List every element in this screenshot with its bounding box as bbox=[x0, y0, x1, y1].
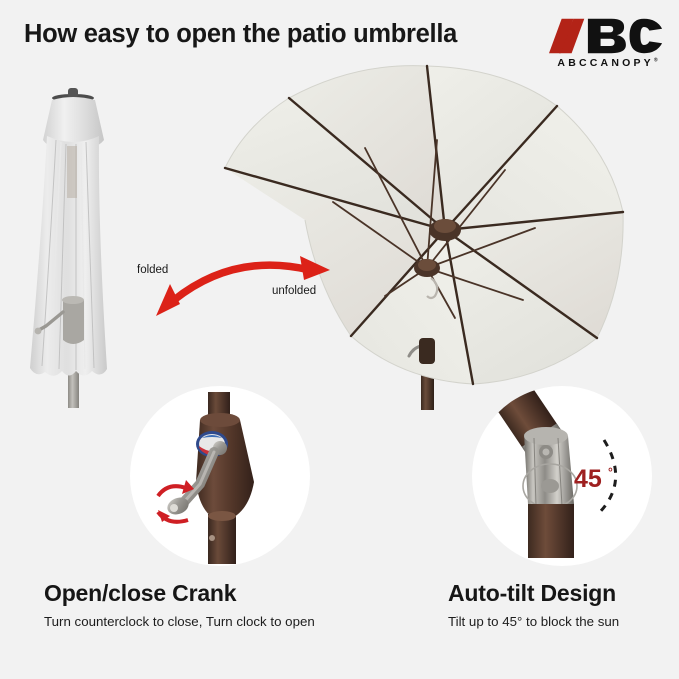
feature-caption-crank: Open/close Crank Turn counterclock to cl… bbox=[44, 580, 414, 629]
tilt-mechanism-illustration: 45 ° bbox=[472, 386, 652, 566]
tilt-angle-unit: ° bbox=[608, 465, 613, 479]
transition-arrow-icon bbox=[150, 248, 335, 320]
tilt-angle-value: 45 bbox=[574, 465, 602, 493]
folded-umbrella-illustration bbox=[6, 78, 156, 408]
feature-caption-tilt: Auto-tilt Design Tilt up to 45° to block… bbox=[448, 580, 679, 629]
feature-photo-tilt: 45 ° bbox=[472, 386, 652, 566]
open-umbrella-illustration bbox=[205, 50, 675, 410]
infographic-page: How easy to open the patio umbrella ABCC… bbox=[0, 0, 679, 679]
feature-title-crank: Open/close Crank bbox=[44, 580, 414, 607]
crank-mechanism-illustration bbox=[130, 386, 310, 566]
feature-subtitle-crank: Turn counterclock to close, Turn clock t… bbox=[44, 614, 414, 629]
illustration-stage: folded unfolded bbox=[0, 0, 679, 679]
label-unfolded: unfolded bbox=[272, 285, 316, 297]
label-folded: folded bbox=[137, 264, 168, 276]
feature-photo-crank bbox=[130, 386, 310, 566]
feature-subtitle-tilt: Tilt up to 45° to block the sun bbox=[448, 614, 679, 629]
feature-title-tilt: Auto-tilt Design bbox=[448, 580, 679, 607]
